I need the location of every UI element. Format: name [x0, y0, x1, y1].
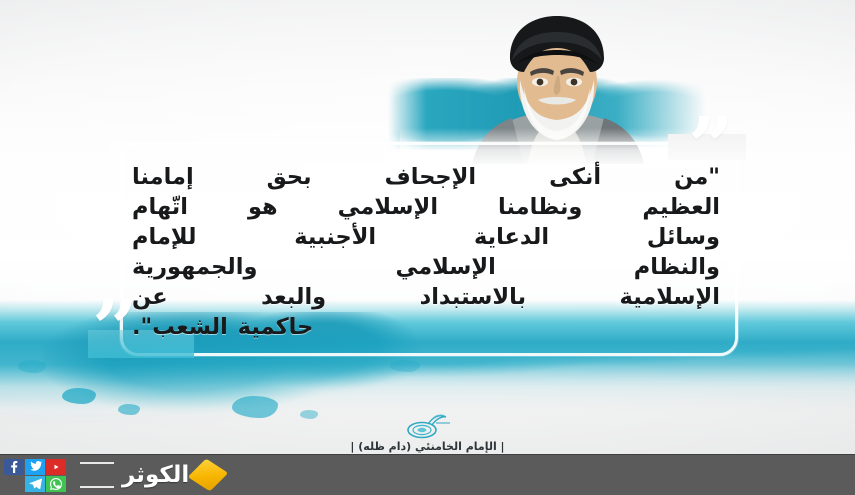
quote-line: والنظام الإسلامي والجمهورية [132, 253, 720, 283]
quote-line: حاكمية الشعب". [132, 313, 720, 343]
brand-name: الكوثر [122, 464, 189, 487]
twitter-icon[interactable] [25, 459, 45, 475]
brush-splat-6 [390, 360, 420, 372]
social-icon-group [4, 459, 66, 492]
social-row-top [4, 459, 66, 475]
facebook-icon[interactable] [4, 459, 24, 475]
logo-rule-top [80, 462, 114, 464]
brush-splat-4 [300, 410, 318, 419]
logo-rules [80, 462, 114, 488]
channel-logo[interactable]: الكوثر [80, 462, 221, 488]
quote-poster: ” ” "من أنكى الإجحاف بحق إمامنا العظيم و… [0, 0, 855, 495]
attribution-text: | الإمام الخامنئي (دام ظله) | [0, 440, 855, 453]
quote-line: "من أنكى الإجحاف بحق إمامنا [132, 163, 720, 193]
quote-line: الإسلامية بالاستبداد والبعد عن [132, 283, 720, 313]
quote-text: "من أنكى الإجحاف بحق إمامنا العظيم ونظام… [132, 163, 720, 343]
brush-splat-2 [118, 404, 140, 415]
youtube-icon[interactable] [46, 459, 66, 475]
quote-line: العظيم ونظامنا الإسلامي هو اتّهام [132, 193, 720, 223]
social-spacer [4, 476, 24, 492]
signature-seal-icon [398, 410, 460, 440]
social-row-bottom [4, 476, 66, 492]
logo-rule-bottom [80, 486, 114, 488]
brush-splat-1 [62, 388, 96, 404]
brush-splat-5 [18, 360, 46, 373]
bottom-bar: الكوثر [0, 454, 855, 495]
diamond-logo-icon [188, 459, 229, 492]
quote-line: وسائل الدعاية الأجنبية للإمام [132, 223, 720, 253]
telegram-icon[interactable] [25, 476, 45, 492]
brush-splat-3 [232, 396, 278, 418]
whatsapp-icon[interactable] [46, 476, 66, 492]
